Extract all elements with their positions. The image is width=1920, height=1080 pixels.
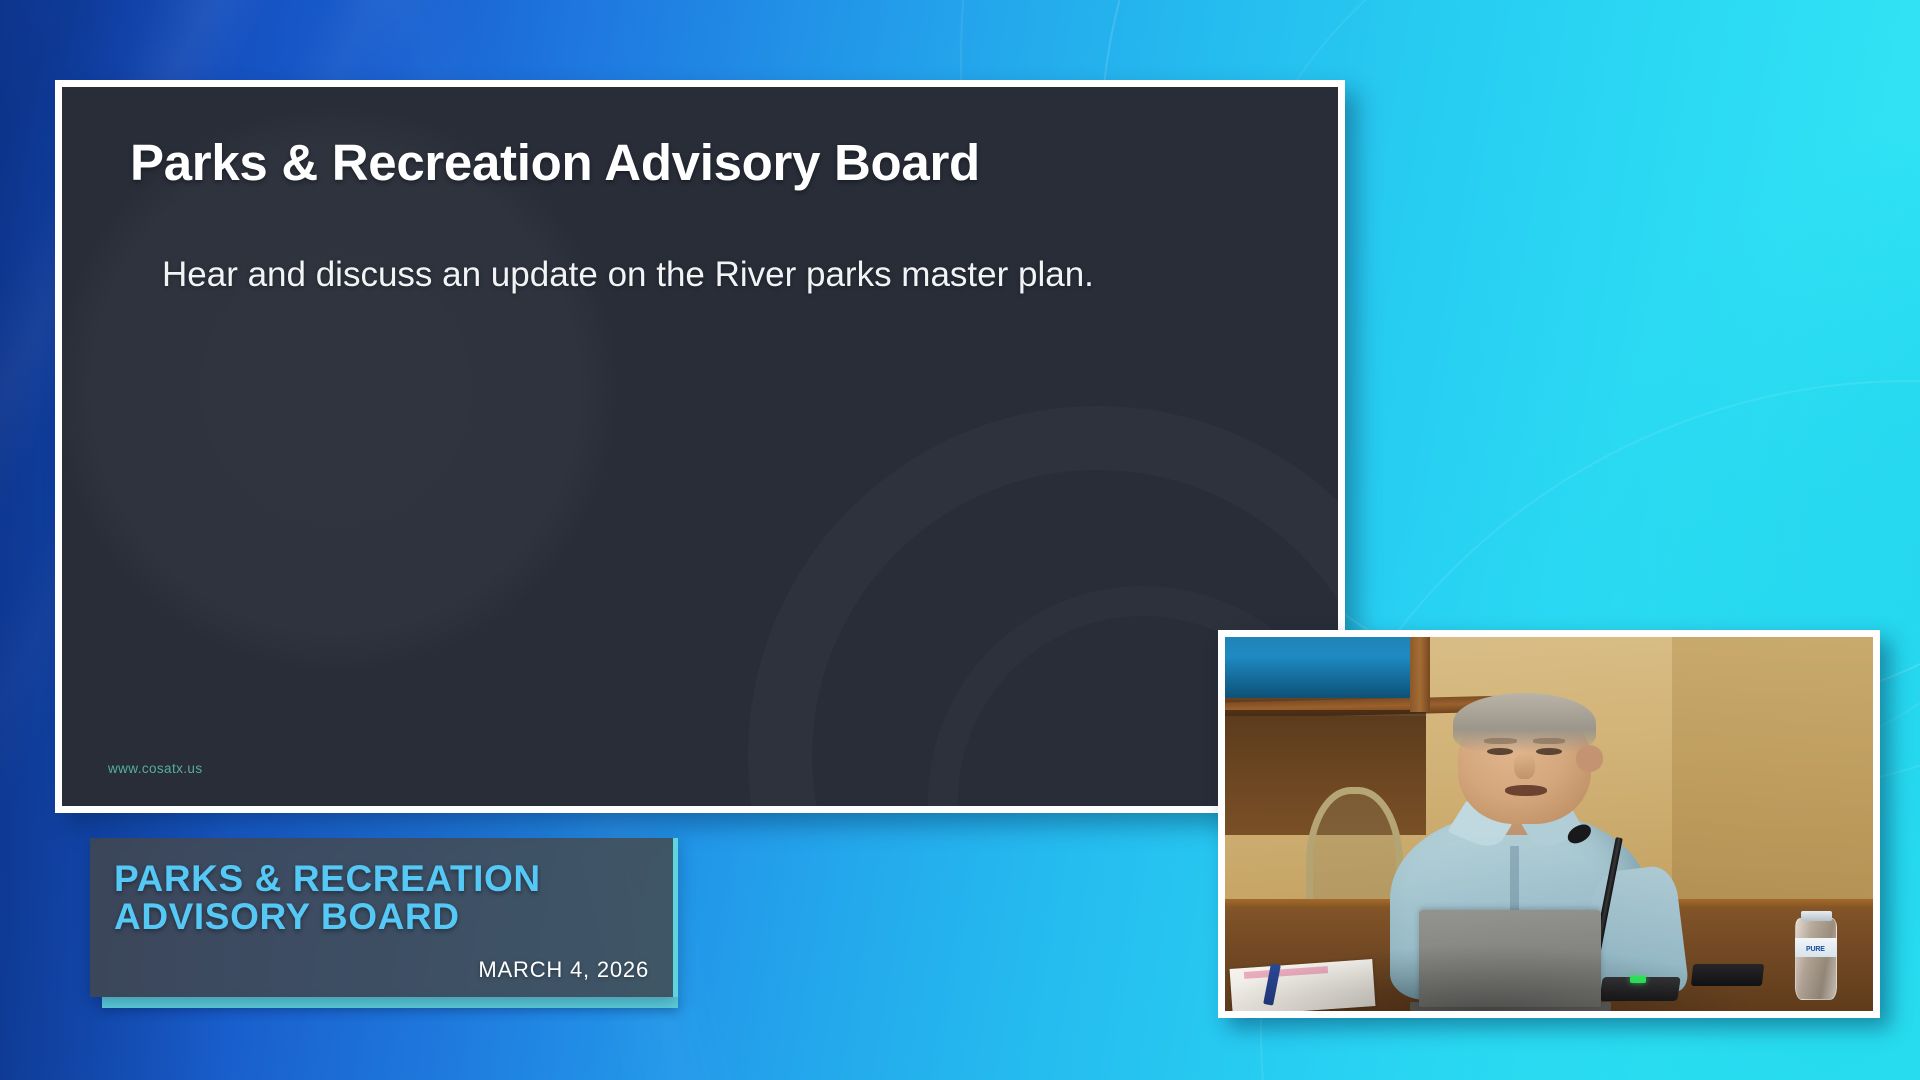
broadcast-stage: Parks & Recreation Advisory Board Hear a… bbox=[0, 0, 1920, 1080]
lower-third-heading-line-2: ADVISORY BOARD bbox=[114, 898, 649, 936]
slide-canvas: Parks & Recreation Advisory Board Hear a… bbox=[62, 87, 1338, 806]
slide-website-url: www.cosatx.us bbox=[108, 761, 202, 776]
lower-third-accent-bar bbox=[102, 997, 678, 1008]
lower-third-heading: PARKS & RECREATION ADVISORY BOARD bbox=[114, 860, 649, 935]
lower-third-banner: PARKS & RECREATION ADVISORY BOARD MARCH … bbox=[90, 838, 678, 1008]
table-shadow bbox=[1225, 906, 1873, 1011]
video-inset-window[interactable]: PURE bbox=[1218, 630, 1880, 1018]
presentation-slide: Parks & Recreation Advisory Board Hear a… bbox=[55, 80, 1345, 813]
lower-third-heading-line-1: PARKS & RECREATION bbox=[114, 860, 649, 898]
slide-title: Parks & Recreation Advisory Board bbox=[130, 135, 1250, 190]
slide-circle-decoration bbox=[62, 109, 616, 669]
slide-body-text: Hear and discuss an update on the River … bbox=[162, 252, 1127, 299]
lower-third-date: MARCH 4, 2026 bbox=[114, 957, 649, 983]
camera-feed: PURE bbox=[1225, 637, 1873, 1011]
lower-third-box: PARKS & RECREATION ADVISORY BOARD MARCH … bbox=[90, 838, 678, 997]
